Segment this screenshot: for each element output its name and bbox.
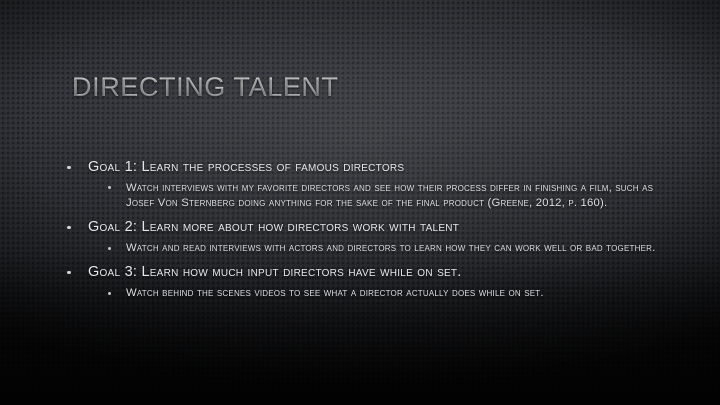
goal-text: Goal 1: Learn the processes of famous di… (88, 159, 404, 175)
list-item-goal: Goal 2: Learn more about how directors w… (62, 218, 680, 238)
round-bullet-icon (67, 226, 71, 230)
presentation-slide: Directing Talent Goal 1: Learn the proce… (0, 0, 720, 405)
list-item-goal: Goal 1: Learn the processes of famous di… (62, 158, 680, 178)
list-item-sub: Watch interviews with my favorite direct… (100, 181, 680, 212)
goal-group: Goal 2: Learn more about how directors w… (62, 218, 680, 256)
page-title: Directing Talent (72, 72, 672, 103)
sub-text: Watch interviews with my favorite direct… (126, 182, 653, 209)
sub-text: Watch behind the scenes videos to see wh… (126, 287, 544, 299)
goal-text: Goal 2: Learn more about how directors w… (88, 219, 459, 235)
list-item-sub: Watch behind the scenes videos to see wh… (100, 286, 680, 301)
round-bullet-icon (108, 186, 111, 189)
round-bullet-icon (108, 247, 111, 250)
round-bullet-icon (108, 292, 111, 295)
round-bullet-icon (67, 166, 71, 170)
slide-body-content: Goal 1: Learn the processes of famous di… (62, 158, 680, 306)
sub-text: Watch and read interviews with actors an… (126, 242, 655, 254)
goal-group: Goal 1: Learn the processes of famous di… (62, 158, 680, 211)
list-item-sub: Watch and read interviews with actors an… (100, 241, 680, 256)
goal-text: Goal 3: Learn how much input directors h… (88, 264, 462, 280)
list-item-goal: Goal 3: Learn how much input directors h… (62, 263, 680, 283)
round-bullet-icon (67, 271, 71, 275)
goal-group: Goal 3: Learn how much input directors h… (62, 263, 680, 301)
